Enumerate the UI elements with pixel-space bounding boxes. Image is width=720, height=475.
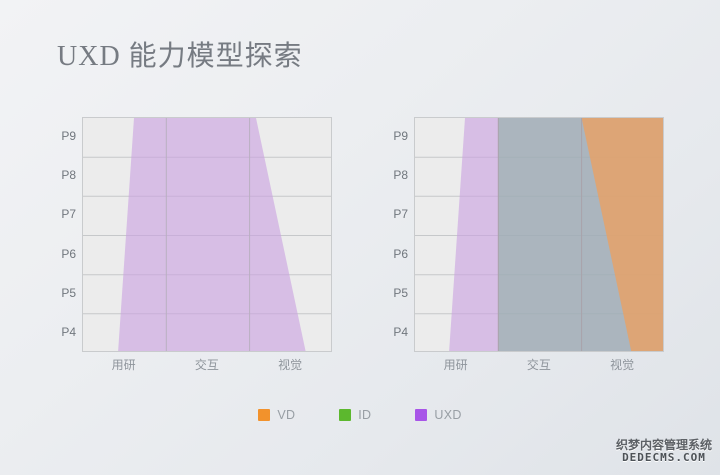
y-tick-p8: P8 bbox=[61, 156, 76, 195]
y-tick-p9: P9 bbox=[393, 117, 408, 156]
y-tick-p4: P4 bbox=[393, 313, 408, 352]
watermark-chinese: 织梦内容管理系统 bbox=[616, 439, 712, 453]
chart-left-y-axis: P9 P8 P7 P6 P5 P4 bbox=[48, 117, 76, 352]
legend-swatch-vd-icon bbox=[258, 409, 270, 421]
legend-item-vd[interactable]: VD bbox=[258, 408, 295, 422]
series-area-uxd bbox=[118, 118, 306, 352]
x-tick-shijue: 视觉 bbox=[582, 356, 662, 373]
x-tick-shijue: 视觉 bbox=[250, 356, 330, 373]
chart-right-plot-area bbox=[414, 117, 664, 352]
x-tick-jiaohu: 交互 bbox=[167, 356, 247, 373]
chart-right-x-axis: 用研 交互 视觉 bbox=[414, 356, 664, 378]
legend-swatch-id-icon bbox=[339, 409, 351, 421]
watermark-domain: DEDECMS.COM bbox=[616, 452, 712, 465]
x-tick-jiaohu: 交互 bbox=[499, 356, 579, 373]
y-tick-p8: P8 bbox=[393, 156, 408, 195]
chart-left-svg bbox=[83, 118, 332, 352]
legend-label-uxd: UXD bbox=[434, 408, 461, 422]
chart-left-x-axis: 用研 交互 视觉 bbox=[82, 356, 332, 378]
chart-legend: VD ID UXD bbox=[0, 408, 720, 422]
y-tick-p5: P5 bbox=[393, 274, 408, 313]
y-tick-p7: P7 bbox=[61, 195, 76, 234]
chart-left-plot-area bbox=[82, 117, 332, 352]
x-tick-yanjiu: 用研 bbox=[416, 356, 496, 373]
y-tick-p6: P6 bbox=[393, 235, 408, 274]
legend-item-id[interactable]: ID bbox=[339, 408, 371, 422]
slide-canvas: UXD 能力模型探索 P9 P8 P7 P6 P5 P4 bbox=[0, 0, 720, 475]
page-title: UXD 能力模型探索 bbox=[57, 34, 303, 74]
y-tick-p9: P9 bbox=[61, 117, 76, 156]
y-tick-p5: P5 bbox=[61, 274, 76, 313]
watermark: 织梦内容管理系统 DEDECMS.COM bbox=[616, 439, 712, 465]
y-tick-p7: P7 bbox=[393, 195, 408, 234]
legend-label-id: ID bbox=[358, 408, 371, 422]
legend-label-vd: VD bbox=[277, 408, 295, 422]
x-tick-yanjiu: 用研 bbox=[84, 356, 164, 373]
chart-right-svg bbox=[415, 118, 664, 352]
y-tick-p6: P6 bbox=[61, 235, 76, 274]
y-tick-p4: P4 bbox=[61, 313, 76, 352]
chart-right-y-axis: P9 P8 P7 P6 P5 P4 bbox=[380, 117, 408, 352]
legend-swatch-uxd-icon bbox=[415, 409, 427, 421]
legend-item-uxd[interactable]: UXD bbox=[415, 408, 461, 422]
